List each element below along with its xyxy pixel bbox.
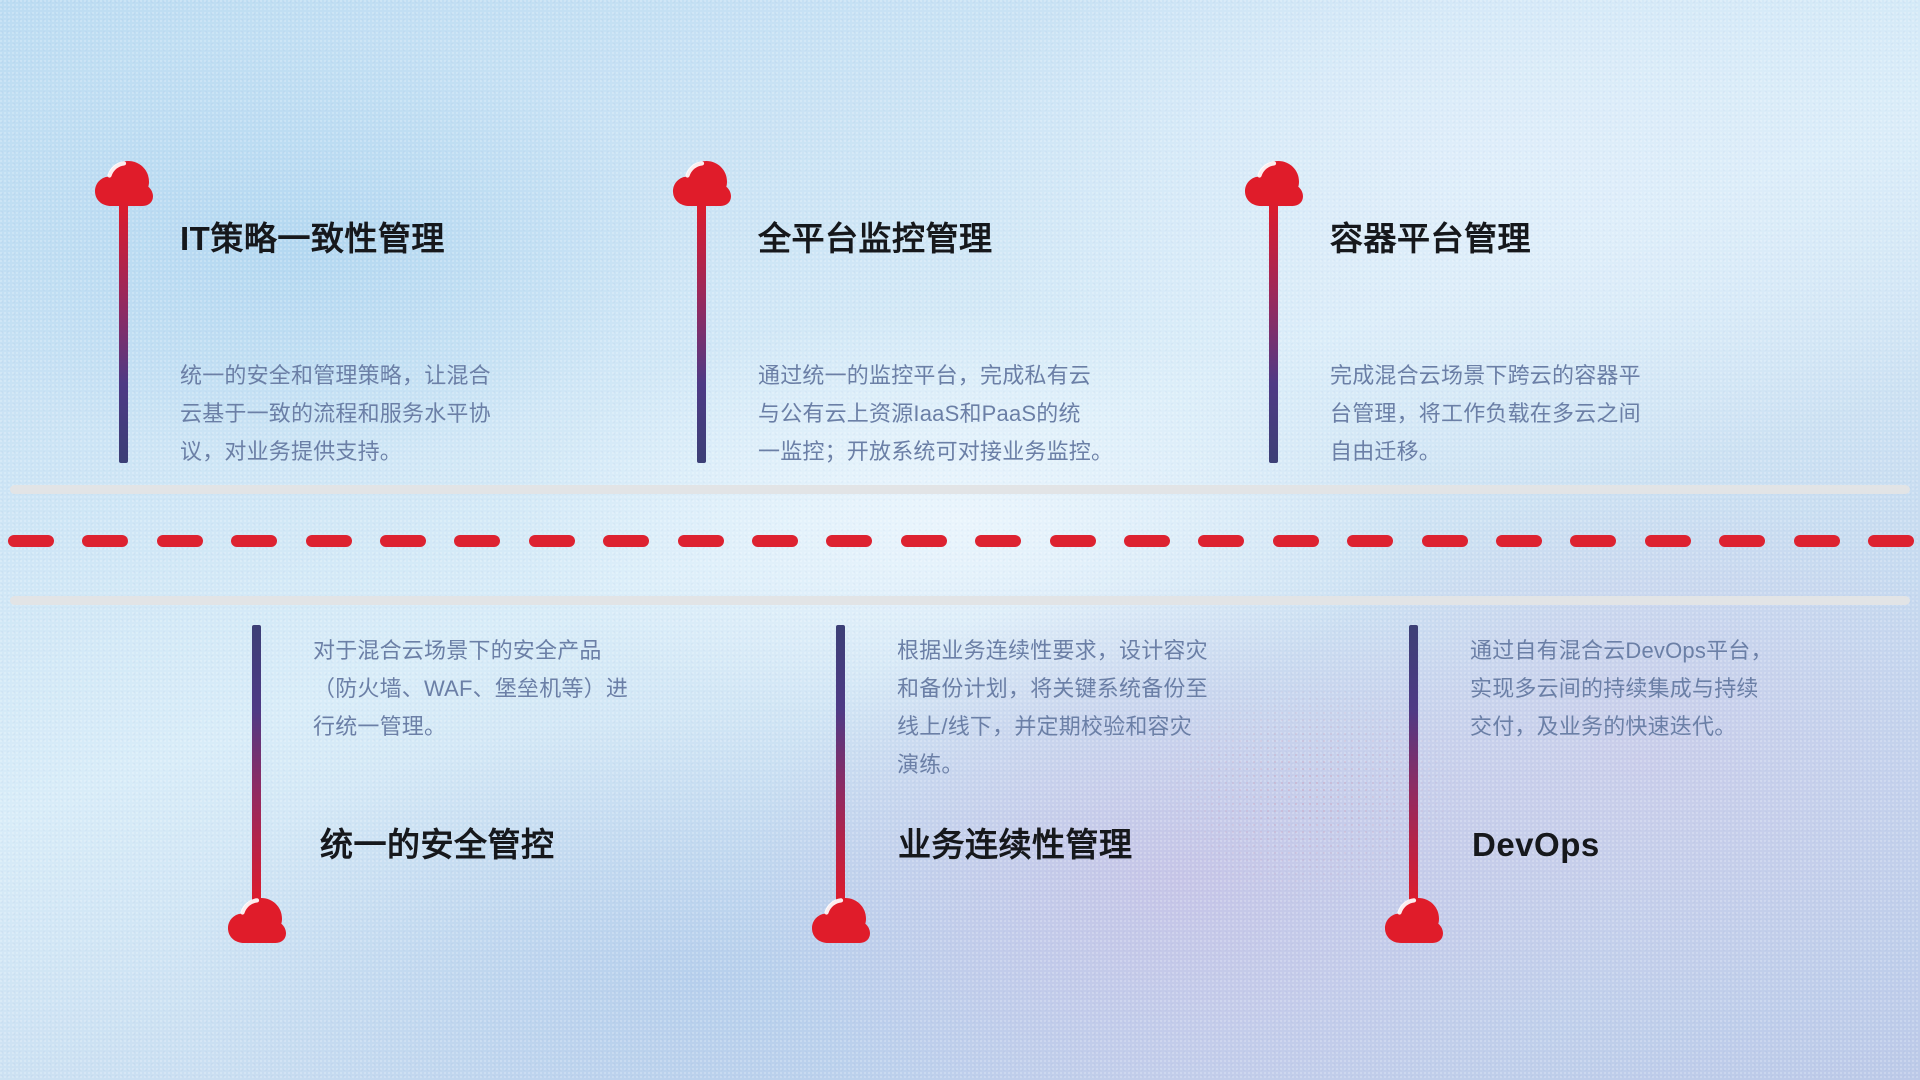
section-body: 对于混合云场景下的安全产品 （防火墙、WAF、堡垒机等）进 行统一管理。 xyxy=(313,632,733,746)
divider-dash xyxy=(1050,535,1096,547)
body-line: 与公有云上资源IaaS和PaaS的统 xyxy=(758,395,1198,433)
connector-stem xyxy=(697,200,706,463)
divider-dash xyxy=(1645,535,1691,547)
divider-dash xyxy=(678,535,724,547)
divider-dash xyxy=(8,535,54,547)
body-line: 演练。 xyxy=(897,746,1317,784)
divider-dashed-line xyxy=(8,535,1914,547)
divider-dash xyxy=(1496,535,1542,547)
divider-dash xyxy=(1347,535,1393,547)
connector-stem xyxy=(119,200,128,463)
divider-dash xyxy=(231,535,277,547)
infographic-canvas: IT策略一致性管理 统一的安全和管理策略，让混合 云基于一致的流程和服务水平协 … xyxy=(0,0,1920,1080)
body-line: 完成混合云场景下跨云的容器平 xyxy=(1330,357,1760,395)
divider-dash xyxy=(975,535,1021,547)
section-heading: 容器平台管理 xyxy=(1330,222,1531,255)
divider-dash xyxy=(826,535,872,547)
divider-dash xyxy=(901,535,947,547)
section-body: 根据业务连续性要求，设计容灾 和备份计划，将关键系统备份至 线上/线下，并定期校… xyxy=(897,632,1317,784)
connector-stem xyxy=(1269,200,1278,463)
timeline-divider xyxy=(0,485,1920,605)
divider-dash xyxy=(454,535,500,547)
connector-stem xyxy=(252,625,261,907)
body-line: 实现多云间的持续集成与持续 xyxy=(1470,670,1890,708)
divider-dash xyxy=(306,535,352,547)
body-line: 交付，及业务的快速迭代。 xyxy=(1470,708,1890,746)
section-body: 统一的安全和管理策略，让混合 云基于一致的流程和服务水平协 议，对业务提供支持。 xyxy=(180,357,610,471)
divider-dash xyxy=(1868,535,1914,547)
divider-rule-top xyxy=(10,485,1910,494)
body-line: 云基于一致的流程和服务水平协 xyxy=(180,395,610,433)
section-heading: 全平台监控管理 xyxy=(758,222,993,255)
divider-dash xyxy=(82,535,128,547)
cloud-icon xyxy=(1384,897,1444,945)
section-body: 通过自有混合云DevOps平台， 实现多云间的持续集成与持续 交付，及业务的快速… xyxy=(1470,632,1890,746)
divider-dash xyxy=(157,535,203,547)
body-line: 议，对业务提供支持。 xyxy=(180,433,610,471)
divider-dash xyxy=(1794,535,1840,547)
connector-stem xyxy=(836,625,845,907)
divider-dash xyxy=(603,535,649,547)
cloud-icon xyxy=(811,897,871,945)
body-line: 行统一管理。 xyxy=(313,708,733,746)
body-line: 台管理，将工作负载在多云之间 xyxy=(1330,395,1760,433)
section-heading: 统一的安全管控 xyxy=(320,828,555,861)
connector-stem xyxy=(1409,625,1418,907)
body-line: （防火墙、WAF、堡垒机等）进 xyxy=(313,670,733,708)
section-body: 通过统一的监控平台，完成私有云 与公有云上资源IaaS和PaaS的统 一监控；开… xyxy=(758,357,1198,471)
body-line: 一监控；开放系统可对接业务监控。 xyxy=(758,433,1198,471)
section-heading: IT策略一致性管理 xyxy=(180,222,445,255)
divider-rule-bottom xyxy=(10,596,1910,605)
body-line: 通过自有混合云DevOps平台， xyxy=(1470,632,1890,670)
divider-dash xyxy=(1124,535,1170,547)
body-line: 线上/线下，并定期校验和容灾 xyxy=(897,708,1317,746)
divider-dash xyxy=(1719,535,1765,547)
divider-dash xyxy=(529,535,575,547)
divider-dash xyxy=(1198,535,1244,547)
section-heading: 业务连续性管理 xyxy=(898,828,1133,861)
divider-dash xyxy=(1422,535,1468,547)
divider-dash xyxy=(380,535,426,547)
body-line: 统一的安全和管理策略，让混合 xyxy=(180,357,610,395)
divider-dash xyxy=(1273,535,1319,547)
body-line: 和备份计划，将关键系统备份至 xyxy=(897,670,1317,708)
body-line: 通过统一的监控平台，完成私有云 xyxy=(758,357,1198,395)
section-body: 完成混合云场景下跨云的容器平 台管理，将工作负载在多云之间 自由迁移。 xyxy=(1330,357,1760,471)
divider-dash xyxy=(1570,535,1616,547)
body-line: 对于混合云场景下的安全产品 xyxy=(313,632,733,670)
divider-dash xyxy=(752,535,798,547)
body-line: 自由迁移。 xyxy=(1330,433,1760,471)
body-line: 根据业务连续性要求，设计容灾 xyxy=(897,632,1317,670)
cloud-icon xyxy=(227,897,287,945)
section-heading: DevOps xyxy=(1472,828,1600,861)
